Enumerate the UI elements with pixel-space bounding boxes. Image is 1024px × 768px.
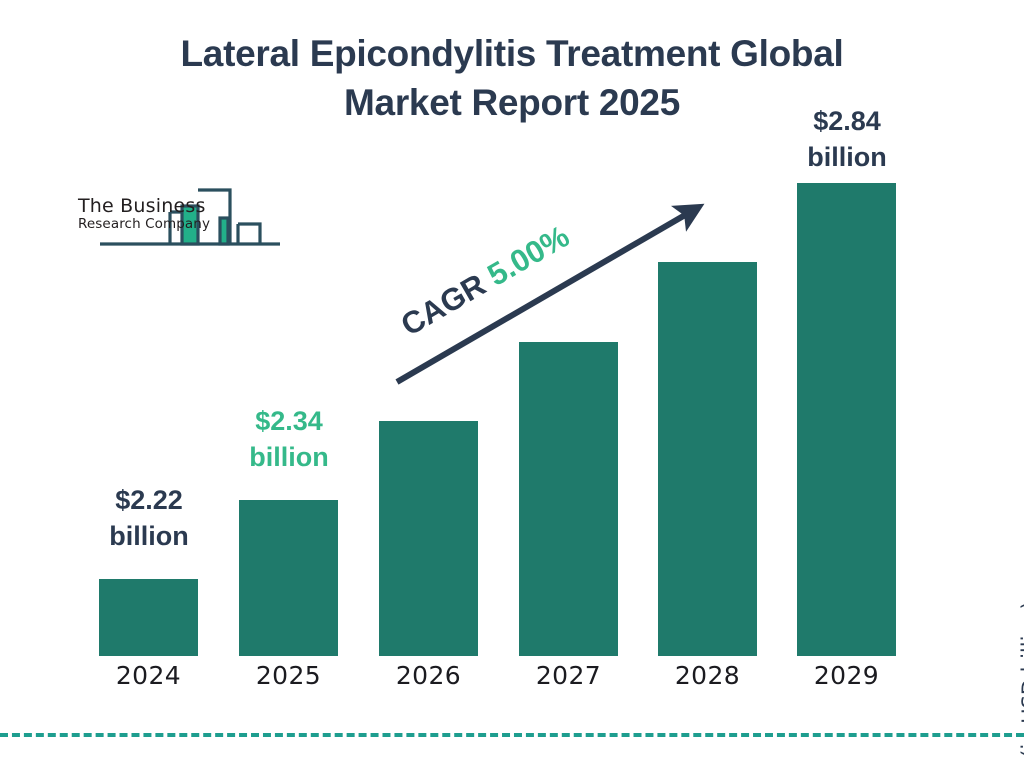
y-axis-title: Market Size (in USD billion) xyxy=(1018,601,1024,768)
value-label-2025: $2.34 billion xyxy=(208,404,370,475)
bar-2027 xyxy=(519,342,618,656)
bar-2024 xyxy=(99,579,198,656)
x-tick-2027: 2027 xyxy=(519,661,618,690)
bar-2026 xyxy=(379,421,478,656)
bar-2025 xyxy=(239,500,338,656)
value-label-2029: $2.84 billion xyxy=(766,104,928,175)
x-tick-2029: 2029 xyxy=(797,661,896,690)
value-label-2024: $2.22 billion xyxy=(68,483,230,554)
x-tick-2026: 2026 xyxy=(379,661,478,690)
footer-divider xyxy=(0,733,1024,737)
chart-page: Lateral Epicondylitis Treatment Global M… xyxy=(0,0,1024,768)
x-tick-2025: 2025 xyxy=(239,661,338,690)
bar-2028 xyxy=(658,262,757,656)
x-tick-2024: 2024 xyxy=(99,661,198,690)
bar-2029 xyxy=(797,183,896,656)
x-tick-2028: 2028 xyxy=(658,661,757,690)
